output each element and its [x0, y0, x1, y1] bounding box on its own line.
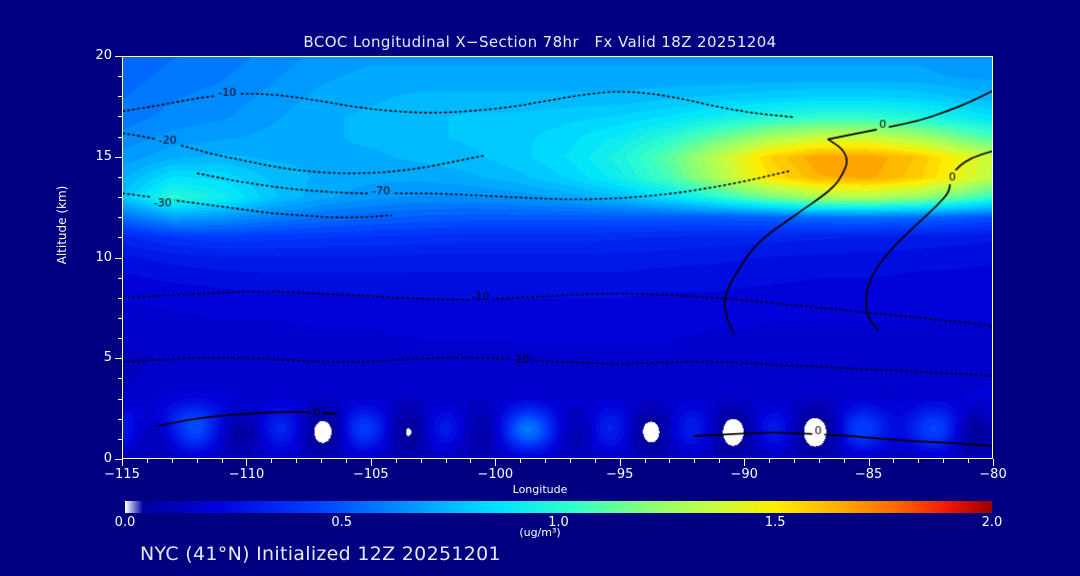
x-axis-tick-mark [645, 459, 646, 463]
y-axis-tick-mark [118, 96, 122, 97]
y-axis-label: Altitude (km) [55, 155, 69, 295]
y-axis-tick-mark [118, 278, 122, 279]
x-axis-tick-label: −105 [341, 467, 401, 482]
x-axis-tick-mark [545, 459, 546, 463]
y-axis-tick-label: 10 [78, 250, 112, 265]
x-axis-label: Longitude [0, 483, 1080, 496]
y-axis-tick-mark [115, 56, 122, 57]
x-axis-tick-mark [794, 459, 795, 463]
y-axis-tick-mark [118, 137, 122, 138]
x-axis-tick-mark [147, 459, 148, 463]
x-axis-tick-mark [719, 459, 720, 463]
x-axis-tick-label: −110 [216, 467, 276, 482]
x-axis-tick-mark [993, 459, 994, 466]
chart-title: BCOC Longitudinal X−Section 78hr Fx Vali… [0, 33, 1080, 51]
x-axis-tick-mark [819, 459, 820, 463]
y-axis-tick-mark [118, 399, 122, 400]
colorbar-units: (ug/m³) [0, 526, 1080, 539]
y-axis-tick-mark [115, 258, 122, 259]
x-axis-tick-mark [744, 459, 745, 466]
x-axis-tick-mark [122, 459, 123, 466]
y-axis-tick-mark [118, 378, 122, 379]
x-axis-tick-mark [595, 459, 596, 463]
x-axis-tick-mark [470, 459, 471, 463]
x-axis-tick-mark [495, 459, 496, 466]
x-axis-tick-mark [321, 459, 322, 463]
y-axis-tick-mark [118, 217, 122, 218]
y-axis-tick-mark [118, 177, 122, 178]
x-axis-tick-label: −80 [963, 467, 1023, 482]
x-axis-tick-mark [446, 459, 447, 463]
chart-canvas: BCOC Longitudinal X−Section 78hr Fx Vali… [0, 0, 1080, 576]
y-axis-tick-mark [118, 76, 122, 77]
y-axis-tick-label: 15 [78, 149, 112, 164]
y-axis-tick-mark [118, 318, 122, 319]
x-axis-tick-mark [296, 459, 297, 463]
x-axis-tick-mark [371, 459, 372, 466]
y-axis-tick-mark [115, 157, 122, 158]
x-axis-tick-mark [197, 459, 198, 463]
x-axis-tick-label: −85 [839, 467, 899, 482]
x-axis-tick-mark [943, 459, 944, 463]
y-axis-tick-mark [115, 459, 122, 460]
x-axis-tick-mark [844, 459, 845, 463]
heatmap-field [123, 57, 992, 458]
x-axis-tick-mark [396, 459, 397, 463]
y-axis-tick-label: 5 [78, 350, 112, 365]
y-axis-tick-mark [118, 419, 122, 420]
colorbar [125, 501, 992, 513]
x-axis-tick-mark [968, 459, 969, 463]
y-axis-tick-mark [118, 116, 122, 117]
y-axis-tick-mark [118, 197, 122, 198]
y-axis-tick-label: 20 [78, 48, 112, 63]
x-axis-tick-label: −90 [714, 467, 774, 482]
x-axis-tick-mark [570, 459, 571, 463]
x-axis-tick-mark [246, 459, 247, 466]
y-axis-tick-label: 0 [78, 451, 112, 466]
y-axis-tick-mark [115, 358, 122, 359]
x-axis-tick-mark [346, 459, 347, 463]
x-axis-tick-mark [222, 459, 223, 463]
y-axis-tick-mark [118, 439, 122, 440]
x-axis-tick-mark [421, 459, 422, 463]
x-axis-tick-mark [271, 459, 272, 463]
x-axis-tick-label: −115 [92, 467, 152, 482]
plot-area [122, 56, 993, 459]
y-axis-tick-mark [118, 237, 122, 238]
x-axis-tick-mark [918, 459, 919, 463]
y-axis-tick-mark [118, 338, 122, 339]
x-axis-tick-mark [520, 459, 521, 463]
x-axis-tick-mark [769, 459, 770, 463]
x-axis-tick-mark [669, 459, 670, 463]
x-axis-tick-mark [172, 459, 173, 463]
x-axis-tick-label: −95 [590, 467, 650, 482]
x-axis-tick-label: −100 [465, 467, 525, 482]
chart-caption: NYC (41°N) Initialized 12Z 20251201 [140, 543, 501, 565]
colorbar-gradient [125, 501, 992, 513]
y-axis-tick-mark [118, 298, 122, 299]
x-axis-tick-mark [620, 459, 621, 466]
x-axis-tick-mark [694, 459, 695, 463]
x-axis-tick-mark [869, 459, 870, 466]
temperature-contour-overlay [123, 57, 992, 458]
x-axis-tick-mark [893, 459, 894, 463]
